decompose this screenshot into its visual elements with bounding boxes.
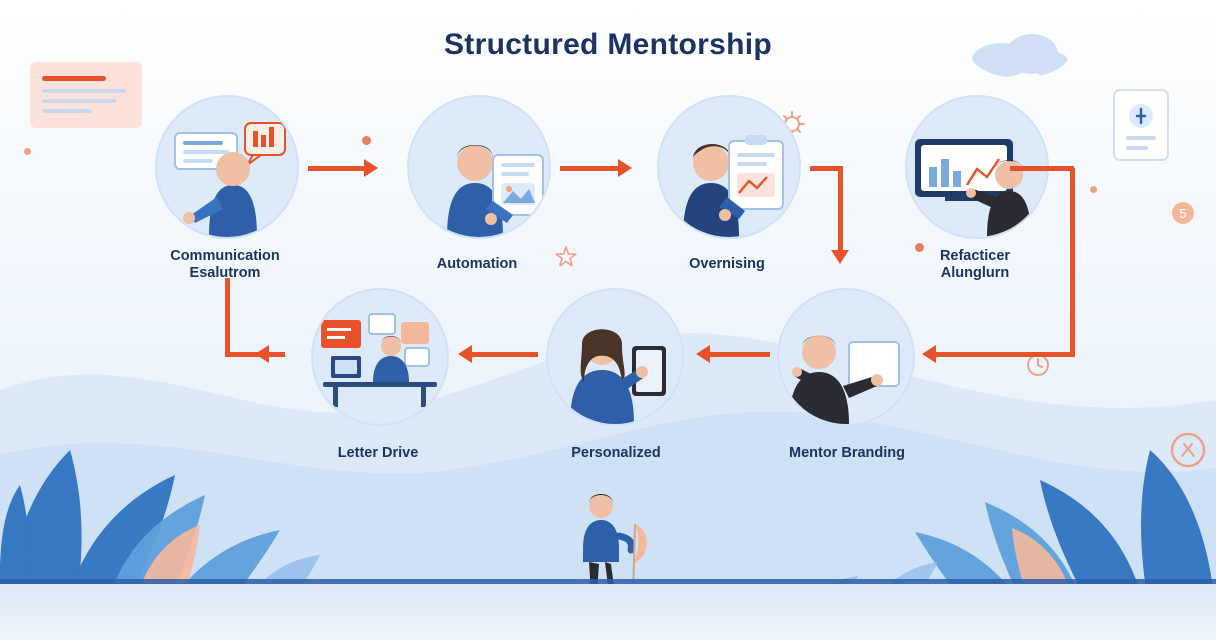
decor-dot bbox=[1090, 186, 1097, 193]
node-personalized-circle[interactable] bbox=[546, 288, 684, 426]
node-communication-circle[interactable] bbox=[155, 95, 299, 239]
node-communication-label: Communication Esalutrom bbox=[135, 248, 315, 281]
node-refacticer-label: Refacticer Alunglurn bbox=[885, 248, 1065, 281]
person-tablet-icon bbox=[779, 290, 913, 424]
node-personalized-label-line1: Personalized bbox=[526, 445, 706, 462]
node-automation-label-line1: Automation bbox=[387, 256, 567, 273]
floor-reflection bbox=[0, 584, 1216, 640]
document-badge-icon bbox=[1110, 88, 1172, 164]
node-automation-circle[interactable] bbox=[407, 95, 551, 239]
node-overnising-label: Overnising bbox=[637, 256, 817, 273]
node-communication-label-line1: Communication bbox=[135, 248, 315, 265]
decor-dot bbox=[24, 148, 31, 155]
node-refacticer-label-line2: Alunglurn bbox=[885, 265, 1065, 282]
node-personalized-label: Personalized bbox=[526, 445, 706, 462]
node-overnising-circle[interactable] bbox=[657, 95, 801, 239]
svg-text:5: 5 bbox=[1179, 206, 1186, 221]
floor-line bbox=[0, 579, 1216, 584]
node-letter-drive-label-line1: Letter Drive bbox=[288, 445, 468, 462]
page-title: Structured Mentorship bbox=[0, 28, 1216, 62]
node-mentor-branding-circle[interactable] bbox=[777, 288, 915, 426]
node-refacticer-label-line1: Refacticer bbox=[885, 248, 1065, 265]
node-mentor-branding-label-line1: Mentor Branding bbox=[757, 445, 937, 462]
person-chat-icon bbox=[157, 97, 297, 237]
node-mentor-branding-label: Mentor Branding bbox=[757, 445, 937, 462]
compass-decor-icon bbox=[1168, 430, 1208, 470]
illustration-canvas: 5 Structured Mentorship bbox=[0, 0, 1216, 640]
note-card-icon bbox=[30, 62, 142, 128]
node-letter-drive-label: Letter Drive bbox=[288, 445, 468, 462]
decor-dot bbox=[362, 136, 371, 145]
woman-tablet-icon bbox=[548, 290, 682, 424]
node-letter-drive-circle[interactable] bbox=[311, 288, 449, 426]
node-automation-label: Automation bbox=[387, 256, 567, 273]
person-clipboard-icon bbox=[659, 97, 799, 237]
badge-decor-icon: 5 bbox=[1170, 200, 1196, 226]
node-overnising-label-line1: Overnising bbox=[637, 256, 817, 273]
desk-workspace-icon bbox=[313, 290, 447, 424]
person-document-icon bbox=[409, 97, 549, 237]
